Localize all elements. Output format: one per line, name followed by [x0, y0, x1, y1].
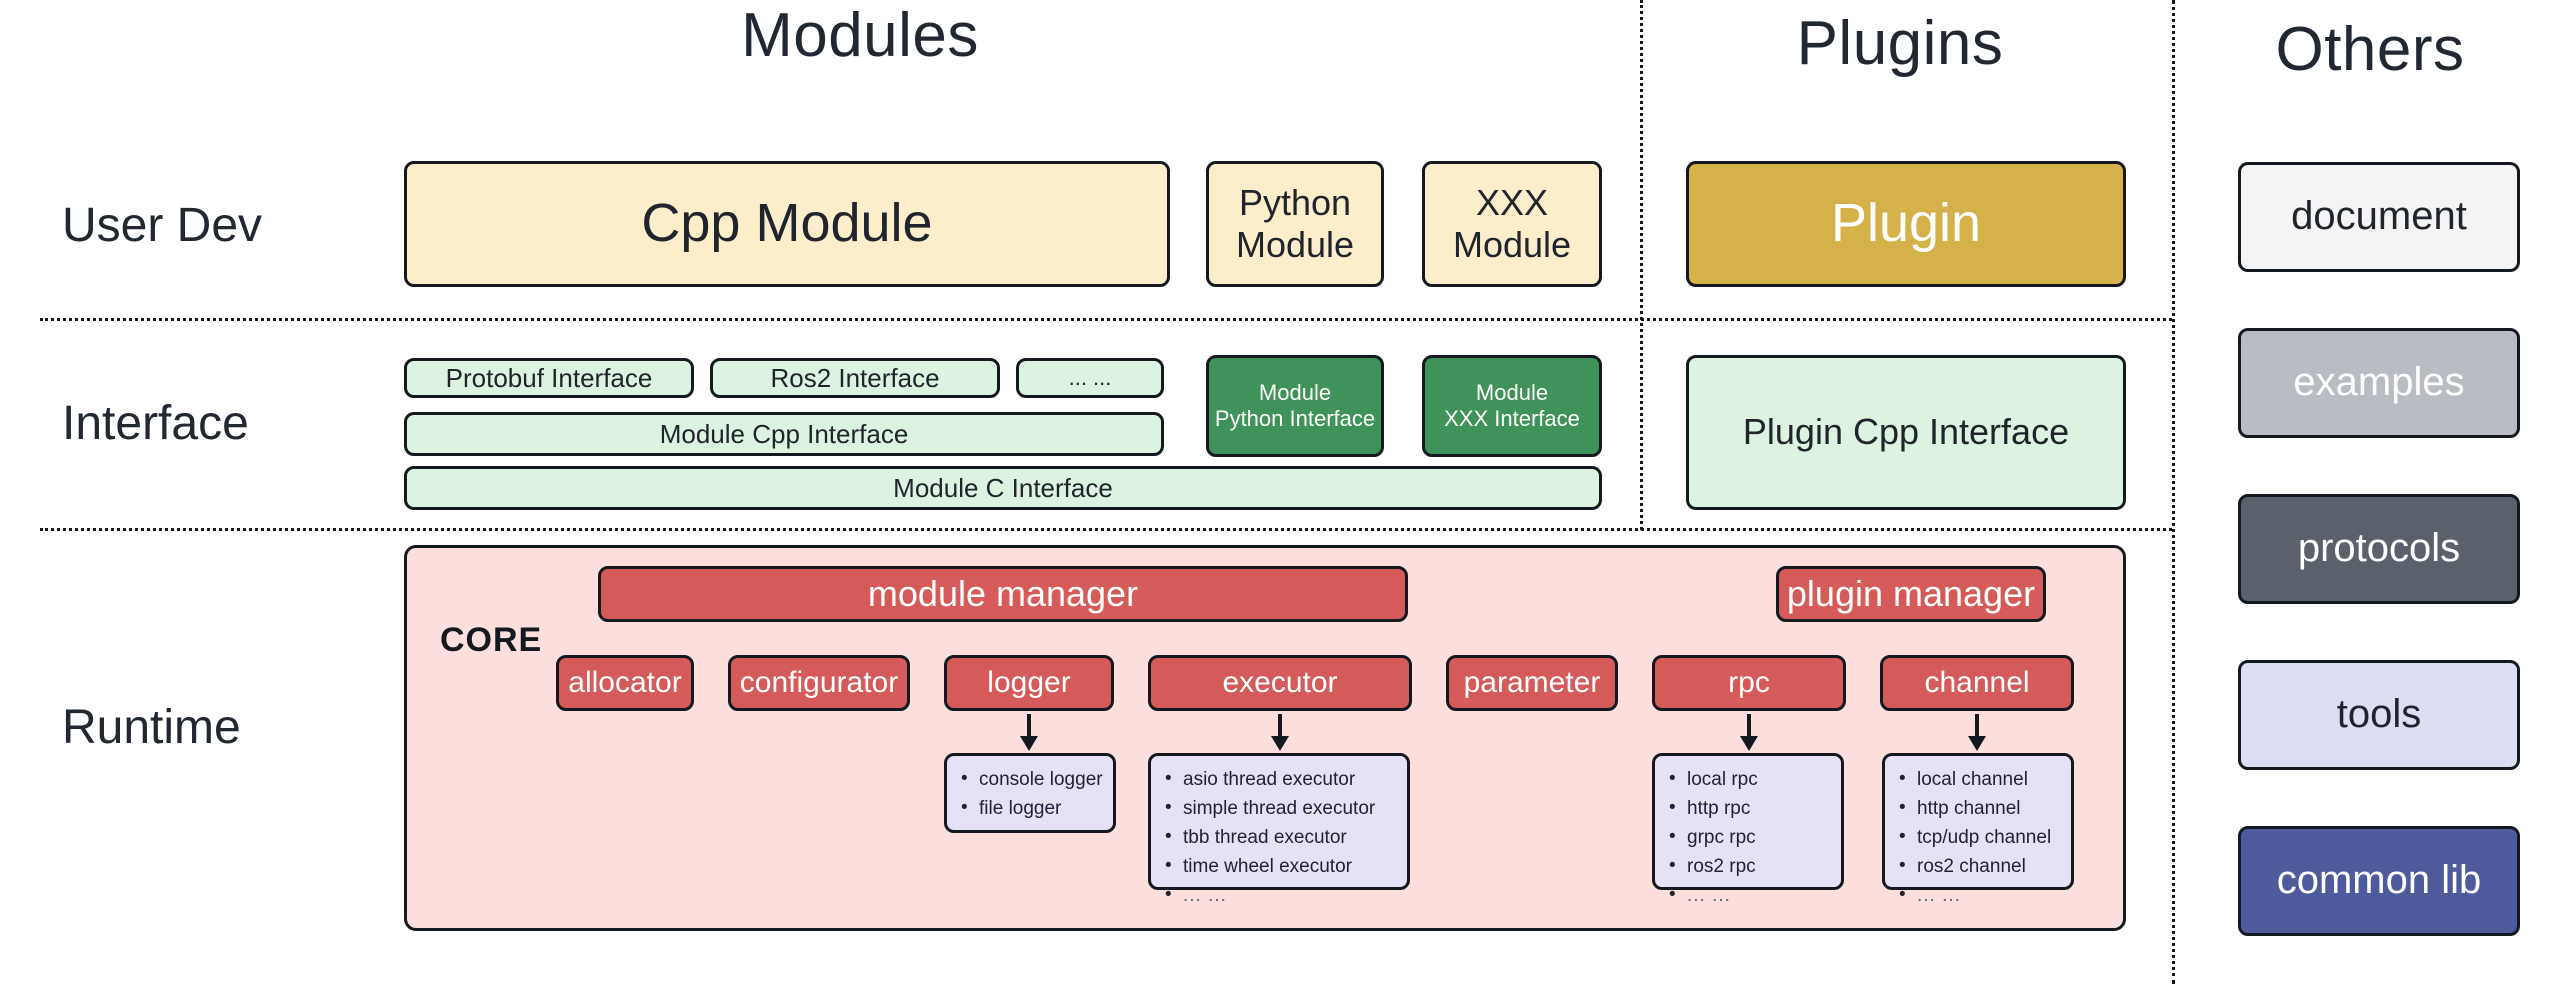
box-xxx-module[interactable]: XXX Module — [1422, 161, 1602, 287]
list-item: tcp/udp channel — [1917, 824, 2063, 853]
arrow-logger-to-details — [1014, 712, 1044, 752]
box-module-manager[interactable]: module manager — [598, 566, 1408, 622]
box-logger[interactable]: logger — [944, 655, 1114, 711]
list-executor-details: asio thread executor simple thread execu… — [1148, 753, 1410, 890]
box-parameter[interactable]: parameter — [1446, 655, 1618, 711]
box-document[interactable]: document — [2238, 162, 2520, 272]
box-allocator[interactable]: allocator — [556, 655, 694, 711]
box-tools[interactable]: tools — [2238, 660, 2520, 770]
box-common-lib[interactable]: common lib — [2238, 826, 2520, 936]
executor-detail-list: asio thread executor simple thread execu… — [1161, 766, 1399, 910]
box-plugin[interactable]: Plugin — [1686, 161, 2126, 287]
divider-plugins-others — [2172, 0, 2175, 984]
column-title-others: Others — [2190, 14, 2550, 85]
arrow-executor-to-details — [1265, 712, 1295, 752]
list-item: ros2 rpc — [1687, 853, 1833, 882]
architecture-diagram: Modules Plugins Others User Dev Interfac… — [0, 0, 2560, 984]
list-item: local channel — [1917, 766, 2063, 795]
list-item: grpc rpc — [1687, 824, 1833, 853]
column-title-modules: Modules — [480, 0, 1240, 71]
box-module-cpp-interface[interactable]: Module Cpp Interface — [404, 412, 1164, 456]
list-item: http rpc — [1687, 795, 1833, 824]
box-rpc[interactable]: rpc — [1652, 655, 1846, 711]
box-module-c-interface[interactable]: Module C Interface — [404, 466, 1602, 510]
box-channel[interactable]: channel — [1880, 655, 2074, 711]
list-item: asio thread executor — [1183, 766, 1399, 795]
list-item: time wheel executor — [1183, 853, 1399, 882]
list-rpc-details: local rpc http rpc grpc rpc ros2 rpc ...… — [1652, 753, 1844, 890]
logger-detail-list: console logger file logger — [957, 766, 1105, 824]
box-executor[interactable]: executor — [1148, 655, 1412, 711]
list-item: local rpc — [1687, 766, 1833, 795]
box-module-python-interface[interactable]: Module Python Interface — [1206, 355, 1384, 457]
arrow-rpc-to-details — [1734, 712, 1764, 752]
list-item: http channel — [1917, 795, 2063, 824]
rpc-detail-list: local rpc http rpc grpc rpc ros2 rpc ...… — [1665, 766, 1833, 910]
list-item: simple thread executor — [1183, 795, 1399, 824]
box-configurator[interactable]: configurator — [728, 655, 910, 711]
list-channel-details: local channel http channel tcp/udp chann… — [1882, 753, 2074, 890]
row-title-runtime: Runtime — [62, 700, 241, 755]
channel-detail-list: local channel http channel tcp/udp chann… — [1895, 766, 2063, 910]
box-protobuf-interface[interactable]: Protobuf Interface — [404, 358, 694, 398]
row-title-user-dev: User Dev — [62, 198, 262, 253]
box-protocols[interactable]: protocols — [2238, 494, 2520, 604]
column-title-plugins: Plugins — [1650, 8, 2150, 79]
box-more-interface[interactable]: ... ... — [1016, 358, 1164, 398]
row-title-interface: Interface — [62, 396, 249, 451]
box-module-xxx-interface[interactable]: Module XXX Interface — [1422, 355, 1602, 457]
divider-userdev-interface — [40, 318, 2172, 321]
divider-modules-plugins — [1640, 0, 1643, 530]
box-python-module[interactable]: Python Module — [1206, 161, 1384, 287]
core-label: CORE — [440, 621, 542, 660]
list-logger-details: console logger file logger — [944, 753, 1116, 833]
box-examples[interactable]: examples — [2238, 328, 2520, 438]
box-plugin-cpp-interface[interactable]: Plugin Cpp Interface — [1686, 355, 2126, 510]
box-plugin-manager[interactable]: plugin manager — [1776, 566, 2046, 622]
list-item: ... ... — [1183, 882, 1399, 911]
box-cpp-module[interactable]: Cpp Module — [404, 161, 1170, 287]
list-item: tbb thread executor — [1183, 824, 1399, 853]
list-item: ros2 channel — [1917, 853, 2063, 882]
list-item: ... ... — [1917, 882, 2063, 911]
list-item: console logger — [979, 766, 1105, 795]
list-item: file logger — [979, 795, 1105, 824]
box-ros2-interface[interactable]: Ros2 Interface — [710, 358, 1000, 398]
arrow-channel-to-details — [1962, 712, 1992, 752]
list-item: ... ... — [1687, 882, 1833, 911]
divider-interface-runtime — [40, 528, 2172, 531]
